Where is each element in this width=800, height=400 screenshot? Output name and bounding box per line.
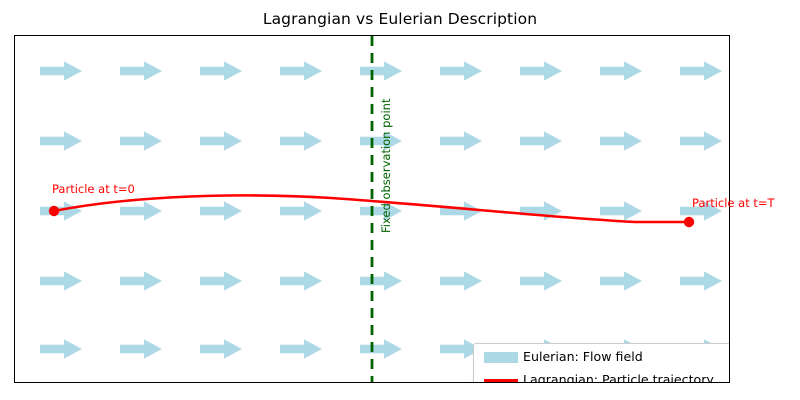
- particle-marker-end: [684, 217, 694, 227]
- legend-swatch-particle-trajectory: [484, 369, 518, 383]
- legend-label-flow-field: Eulerian: Flow field: [523, 349, 643, 364]
- plot-area: Fixed observation point Eulerian: Flow f…: [14, 35, 730, 383]
- particle-start-annotation: Particle at t=0: [52, 182, 135, 196]
- page-title: Lagrangian vs Eulerian Description: [0, 10, 800, 28]
- particle-trajectory-layer: [15, 36, 729, 382]
- particle-end-annotation: Particle at t=T: [692, 196, 775, 210]
- legend-swatch-flow-field: [484, 346, 518, 369]
- legend-row-particle-trajectory: Lagrangian: Particle trajectory: [474, 369, 730, 383]
- legend-row-flow-field: Eulerian: Flow field: [474, 346, 730, 369]
- legend-label-particle-trajectory: Lagrangian: Particle trajectory: [523, 372, 714, 383]
- particle-marker-start: [49, 206, 59, 216]
- figure-canvas: Lagrangian vs Eulerian Description: [0, 0, 800, 400]
- particle-trajectory-line: [54, 195, 689, 222]
- legend: Eulerian: Flow field Lagrangian: Particl…: [473, 343, 730, 383]
- fixed-observation-point-label: Fixed observation point: [379, 99, 393, 233]
